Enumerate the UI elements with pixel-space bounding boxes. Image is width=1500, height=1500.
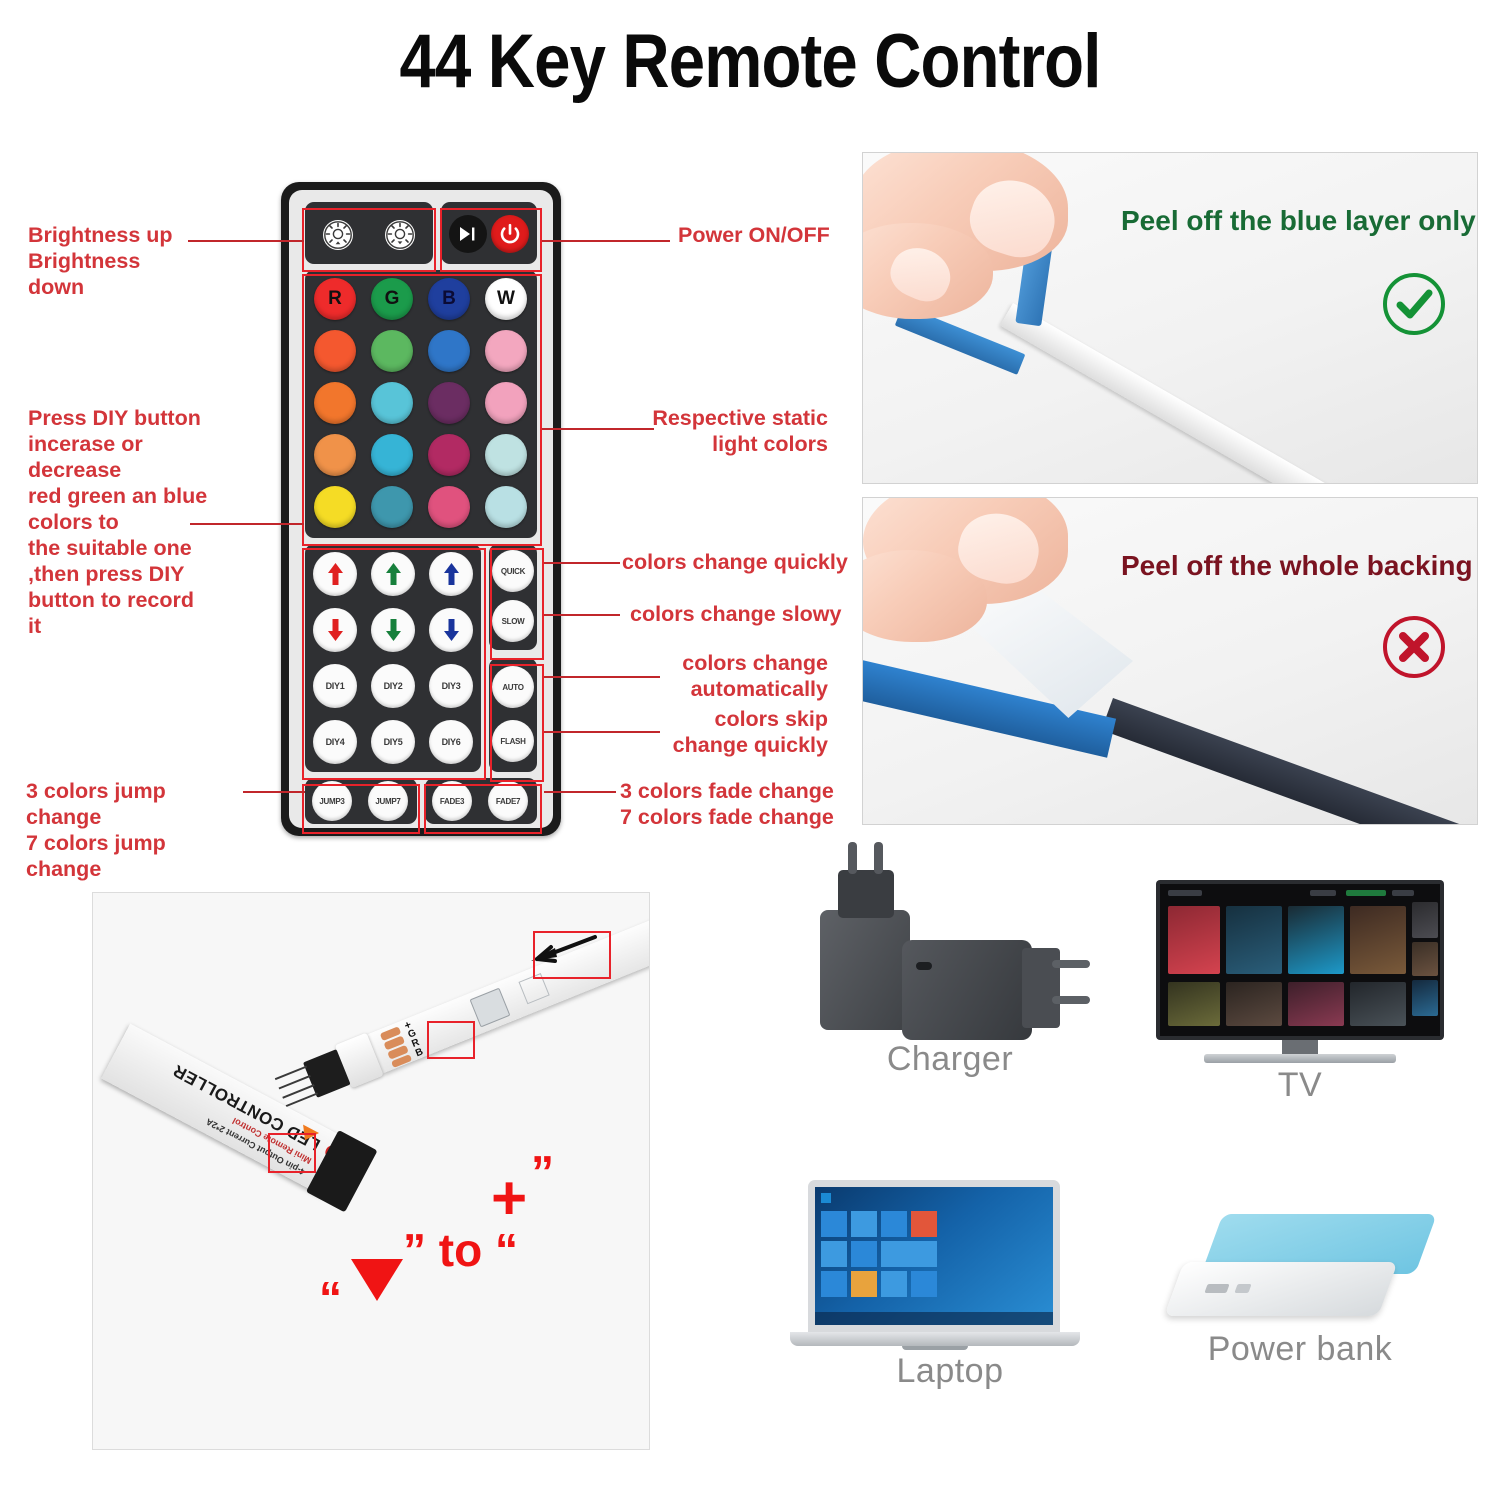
desktop-tile [821, 1241, 847, 1267]
taskbar [815, 1312, 1053, 1325]
windows-start-icon [821, 1193, 831, 1203]
desktop-tile [821, 1271, 847, 1297]
callout-box-fade [424, 784, 542, 834]
tv-bezel [1156, 880, 1444, 1040]
annotation-diy: Press DIY button incerase or decrease re… [28, 405, 208, 639]
strip-pad-label-b: B [414, 1046, 425, 1059]
photo-peel-whole-backing: Peel off the whole backing [862, 497, 1478, 825]
check-icon [1383, 273, 1445, 335]
charger-body-back [820, 910, 910, 1030]
callout-box-brightness [302, 208, 436, 272]
laptop-lid [808, 1180, 1060, 1332]
desktop-tile [911, 1211, 937, 1237]
desktop-tile [821, 1211, 847, 1237]
charger-label: Charger [790, 1040, 1110, 1079]
callout-box-arrows-diy [302, 548, 486, 780]
device-power-bank: Power bank [1150, 1200, 1450, 1400]
desktop-tile [881, 1211, 907, 1237]
tv-nav-item [1310, 890, 1336, 896]
tv-stand-base [1204, 1054, 1396, 1063]
tv-poster-side [1412, 902, 1438, 938]
tv-poster [1168, 982, 1220, 1026]
power-bank-label: Power bank [1150, 1330, 1450, 1369]
charger-prong-1 [848, 842, 857, 874]
wiring-note-quote-end: ” [531, 1145, 554, 1199]
leader-line-brightness [188, 240, 304, 242]
cross-icon [1383, 616, 1445, 678]
leader-line-power [542, 240, 670, 242]
annotation-slow: colors change slowy [630, 601, 841, 627]
desktop-tile [851, 1271, 877, 1297]
callout-box-power [440, 208, 542, 272]
charger-prong-4 [1052, 996, 1090, 1004]
tv-poster [1350, 906, 1406, 974]
desktop-tile [851, 1211, 877, 1237]
tv-label: TV [1150, 1066, 1450, 1105]
callout-box-strip-arrow [533, 931, 611, 979]
tv-poster [1288, 982, 1344, 1026]
tv-poster-side [1412, 942, 1438, 976]
annotation-flash: colors skip change quickly [610, 706, 828, 758]
tv-poster [1226, 982, 1282, 1026]
wiring-note-plus: + [491, 1163, 527, 1234]
tv-poster [1350, 982, 1406, 1026]
annotation-quick: colors change quickly [622, 549, 848, 575]
leader-line-slow [544, 614, 620, 616]
photo1-caption: Peel off the blue layer only [1121, 205, 1476, 237]
infographic-root: 44 Key Remote Control [0, 0, 1500, 1500]
charger-prong-3 [1052, 960, 1090, 968]
device-laptop: Laptop [790, 1180, 1110, 1395]
leader-line-fade [544, 791, 616, 793]
desktop-tile [911, 1271, 937, 1297]
callout-box-jump [302, 784, 420, 834]
leader-line-quick [544, 562, 620, 564]
callout-box-plus-pad [427, 1021, 475, 1059]
callout-box-speed [490, 548, 544, 660]
tv-screen [1160, 884, 1440, 1036]
led-chip [470, 988, 511, 1028]
tv-poster [1168, 906, 1220, 974]
annotation-fade: 3 colors fade change 7 colors fade chang… [620, 778, 850, 830]
leader-line-jump [243, 791, 305, 793]
tv-nav-active [1346, 890, 1386, 896]
laptop-label: Laptop [790, 1352, 1110, 1391]
page-title: 44 Key Remote Control [105, 18, 1395, 105]
usb-port-icon [1204, 1284, 1229, 1293]
desktop-tile [881, 1241, 937, 1267]
callout-box-mode [490, 664, 544, 782]
power-bank-bottom-unit [1164, 1262, 1398, 1316]
usb-c-port-icon [916, 962, 932, 970]
laptop-notch [902, 1346, 968, 1350]
wiring-note-quote-open: “ [319, 1271, 342, 1325]
device-charger: Charger [790, 840, 1110, 1080]
tv-nav-item [1168, 890, 1202, 896]
photo-peel-blue-layer: Peel off the blue layer only [862, 152, 1478, 484]
tv-poster [1226, 906, 1282, 974]
tv-poster [1288, 906, 1344, 974]
red-triangle-icon [351, 1259, 403, 1301]
tv-nav-item [1392, 890, 1414, 896]
device-tv: TV [1150, 880, 1450, 1090]
annotation-power: Power ON/OFF [678, 222, 830, 248]
callout-box-colors [302, 274, 542, 546]
photo2-caption: Peel off the whole backing [1121, 550, 1473, 582]
charger-plug-base-back [838, 870, 894, 918]
annotation-auto: colors change automatically [610, 650, 828, 702]
charger-body-front [902, 940, 1032, 1040]
desktop-tile [881, 1271, 907, 1297]
desktop-tile [851, 1241, 877, 1267]
charger-prong-2 [874, 842, 883, 874]
annotation-jump: 3 colors jump change 7 colors jump chang… [26, 778, 246, 882]
annotation-static-colors: Respective static light colors [618, 405, 828, 457]
tv-poster-side [1412, 980, 1438, 1016]
laptop-base [790, 1332, 1080, 1346]
annotation-brightness: Brightness up Brightness down [28, 222, 193, 300]
controller-wiring-panel: + G R B 4-pin Output Current 2*2A [92, 892, 650, 1450]
laptop-screen [815, 1187, 1053, 1325]
callout-box-triangle-marker [268, 1133, 316, 1173]
